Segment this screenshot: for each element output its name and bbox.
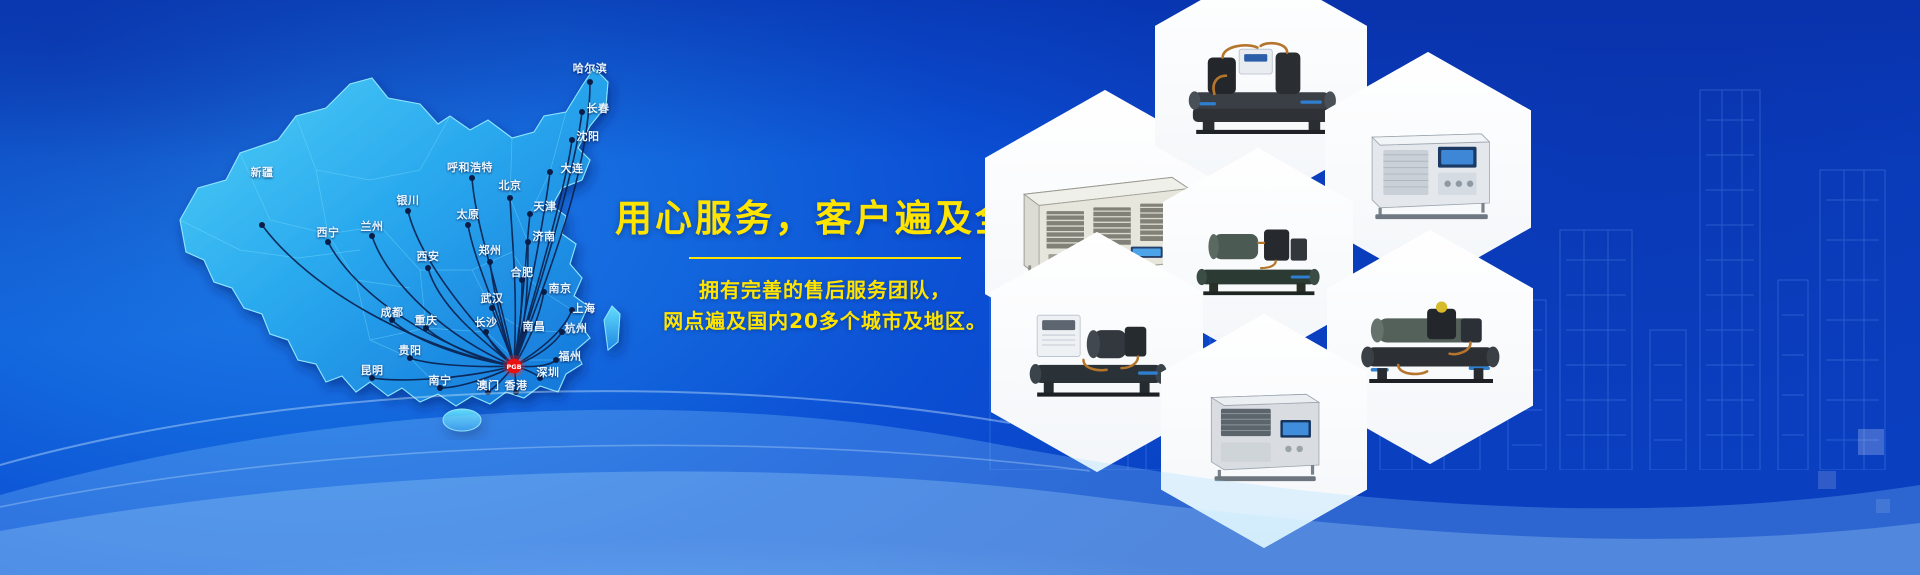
product-hex-gallery	[975, 0, 1920, 575]
product-image-water-cooled-unit	[1350, 256, 1511, 439]
city-dot	[469, 175, 475, 181]
city-dot	[325, 239, 331, 245]
city-dot	[489, 305, 495, 311]
city-dot	[579, 109, 585, 115]
city-dot	[513, 389, 519, 395]
china-map: 哈尔滨长春沈阳大连北京天津呼和浩特银川太原济南郑州西安合肥南京上海武汉长沙杭州南…	[120, 20, 680, 440]
hero-subtitle-line-1: 拥有完善的售后服务团队，	[615, 275, 1035, 306]
hero-subtitle-line-2: 网点遍及国内20多个城市及地区。	[615, 306, 1035, 337]
city-dot	[587, 79, 593, 85]
decor-square-1	[1858, 429, 1884, 455]
city-dot	[369, 233, 375, 239]
city-dot	[369, 375, 375, 381]
city-dot	[465, 222, 471, 228]
city-dot	[569, 137, 575, 143]
city-dot	[537, 375, 543, 381]
city-dot	[547, 169, 553, 175]
city-dot	[423, 325, 429, 331]
city-dot	[407, 355, 413, 361]
city-dot	[553, 357, 559, 363]
decor-square-2	[1818, 471, 1836, 489]
city-dot	[485, 389, 491, 395]
city-dot	[541, 289, 547, 295]
hero-banner: 哈尔滨长春沈阳大连北京天津呼和浩特银川太原济南郑州西安合肥南京上海武汉长沙杭州南…	[0, 0, 1920, 575]
city-dot	[483, 329, 489, 335]
city-dot	[389, 317, 395, 323]
product-image-cabinet-chiller	[1184, 340, 1345, 523]
city-dot	[437, 385, 443, 391]
hub-marker-guangzhou: PGB	[499, 351, 529, 381]
city-dot	[525, 239, 531, 245]
page-title: 用心服务，客户遍及全国	[615, 198, 1035, 241]
decor-square-3	[1876, 499, 1890, 513]
svg-text:PGB: PGB	[506, 363, 521, 371]
product-image-open-frame-chiller	[1014, 258, 1179, 445]
city-dot	[519, 277, 525, 283]
city-dot	[527, 211, 533, 217]
city-dot	[259, 222, 265, 228]
title-divider	[689, 257, 961, 259]
product-image-condensing-unit	[1184, 172, 1332, 340]
city-dot	[569, 307, 575, 313]
city-dot	[405, 208, 411, 214]
china-map-svg	[120, 20, 680, 440]
city-dot	[425, 265, 431, 271]
city-dot	[521, 327, 527, 333]
hero-text-block: 用心服务，客户遍及全国 拥有完善的售后服务团队， 网点遍及国内20多个城市及地区…	[615, 198, 1035, 337]
hero-subtitle: 拥有完善的售后服务团队， 网点遍及国内20多个城市及地区。	[615, 275, 1035, 337]
city-dot	[559, 329, 565, 335]
city-dot	[487, 259, 493, 265]
city-dot	[507, 195, 513, 201]
